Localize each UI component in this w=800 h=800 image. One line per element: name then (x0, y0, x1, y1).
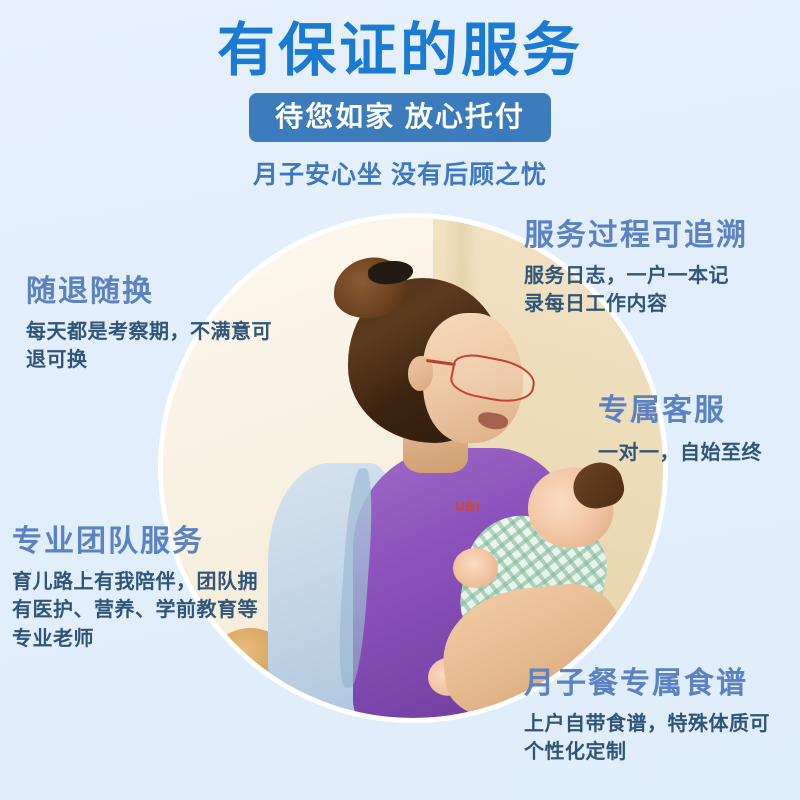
feature-desc-line: 有医护、营养、学前教育等 (12, 596, 258, 624)
poster-header: 有保证的服务 待您如家 放心托付 月子安心坐 没有后顾之忧 (0, 0, 800, 191)
feature-description: 育儿路上有我陪伴，团队拥 有医护、营养、学前教育等 专业老师 (12, 568, 258, 653)
baby-hand (453, 548, 498, 588)
feature-title: 专业团队服务 (12, 524, 258, 560)
feature-description: 一对一，自始至终 (598, 439, 762, 467)
feature-professional-team: 专业团队服务 育儿路上有我陪伴，团队拥 有医护、营养、学前教育等 专业老师 (12, 524, 258, 653)
feature-dedicated-support: 专属客服 一对一，自始至终 (598, 393, 762, 467)
feature-traceable-service: 服务过程可追溯 服务日志，一户一本记 录每日工作内容 (524, 218, 748, 319)
page-subtitle: 月子安心坐 没有后顾之忧 (0, 155, 800, 191)
feature-desc-line: 一对一，自始至终 (598, 439, 762, 467)
feature-desc-line: 个性化定制 (524, 738, 770, 766)
feature-description: 每天都是考察期，不满意可 退可换 (26, 318, 272, 375)
badge-wrapper: 待您如家 放心托付 (0, 93, 800, 142)
feature-desc-line: 录每日工作内容 (524, 290, 748, 318)
tagline-badge: 待您如家 放心托付 (249, 93, 551, 142)
feature-title: 随退随换 (26, 274, 272, 310)
feature-return-exchange: 随退随换 每天都是考察期，不满意可 退可换 (26, 274, 272, 375)
feature-desc-line: 上户自带食谱，特殊体质可 (524, 710, 770, 738)
feature-postpartum-menu: 月子餐专属食谱 上户自带食谱，特殊体质可 个性化定制 (524, 666, 770, 767)
feature-title: 月子餐专属食谱 (524, 666, 770, 702)
feature-desc-line: 专业老师 (12, 625, 258, 653)
feature-desc-line: 服务日志，一户一本记 (524, 262, 748, 290)
feature-description: 上户自带食谱，特殊体质可 个性化定制 (524, 710, 770, 767)
page-title: 有保证的服务 (0, 0, 800, 85)
feature-desc-line: 育儿路上有我陪伴，团队拥 (12, 568, 258, 596)
feature-desc-line: 退可换 (26, 346, 272, 374)
feature-desc-line: 每天都是考察期，不满意可 (26, 318, 272, 346)
promo-poster: 有保证的服务 待您如家 放心托付 月子安心坐 没有后顾之忧 UBI (0, 0, 800, 800)
feature-title: 专属客服 (598, 393, 762, 429)
feature-description: 服务日志，一户一本记 录每日工作内容 (524, 262, 748, 319)
feature-title: 服务过程可追溯 (524, 218, 748, 254)
